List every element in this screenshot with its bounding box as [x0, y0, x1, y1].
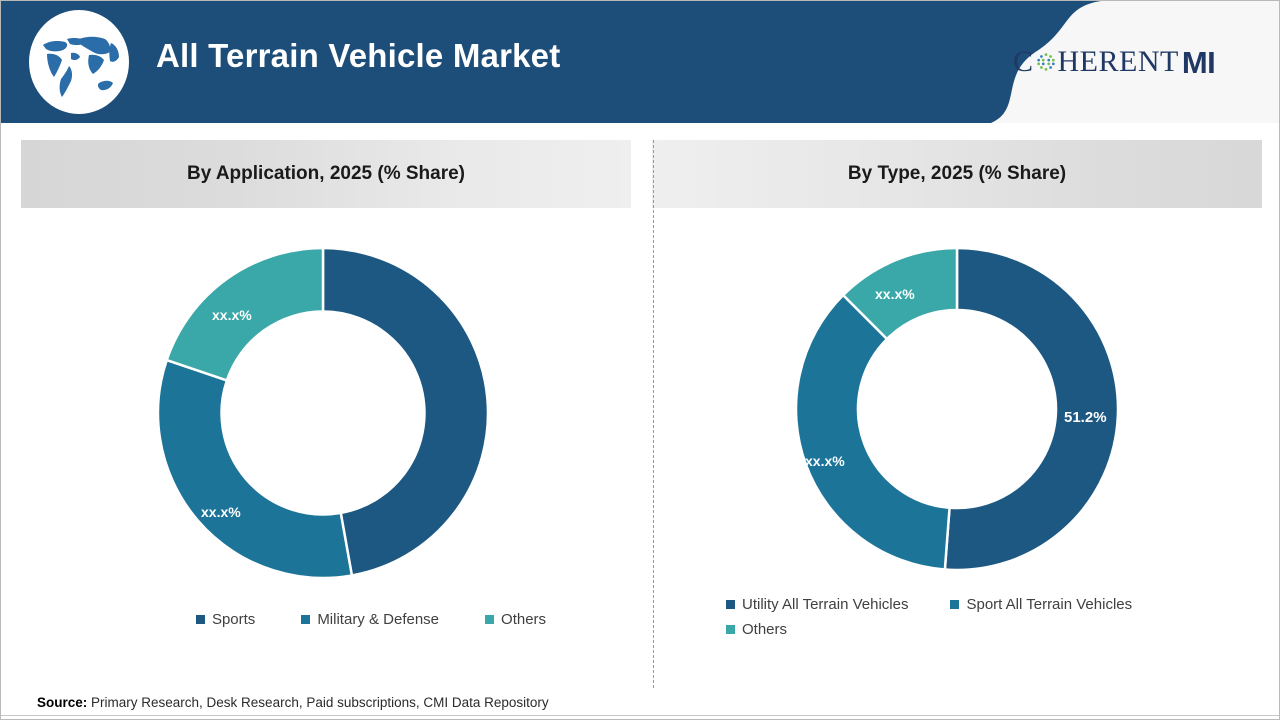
legend-item-utility-atv[interactable]: Utility All Terrain Vehicles: [726, 596, 908, 613]
legend-swatch-military-defense: [301, 615, 310, 624]
donut-slice[interactable]: [323, 248, 488, 575]
donut-left-svg: [156, 246, 490, 580]
panel-left-title: By Application, 2025 (% Share): [187, 163, 465, 185]
legend-label-sports: Sports: [212, 611, 255, 628]
legend-label-military-defense: Military & Defense: [317, 611, 439, 628]
legend-item-sport-atv[interactable]: Sport All Terrain Vehicles: [950, 596, 1132, 613]
logo-text-part1: C: [1013, 47, 1034, 77]
legend-item-sports[interactable]: Sports: [196, 611, 255, 628]
logo-text-mi: MI: [1182, 47, 1215, 78]
source-text: Primary Research, Desk Research, Paid su…: [87, 695, 548, 710]
coherentmi-logo[interactable]: C HERENT: [1013, 39, 1280, 85]
panel-left-title-bar: By Application, 2025 (% Share): [21, 140, 631, 208]
legend-swatch-others-right: [726, 625, 735, 634]
globe-world-map-icon: [27, 9, 131, 115]
panel-divider: [653, 140, 654, 688]
panel-right-title-bar: By Type, 2025 (% Share): [652, 140, 1262, 208]
sphere-globe-dots-icon: [1035, 51, 1057, 73]
source-label: Source:: [37, 695, 87, 710]
legend-label-sport-atv: Sport All Terrain Vehicles: [966, 596, 1132, 613]
legend-by-type: Utility All Terrain Vehicles Sport All T…: [726, 596, 1206, 646]
legend-label-utility-atv: Utility All Terrain Vehicles: [742, 596, 908, 613]
legend-by-application: Sports Military & Defense Others: [161, 611, 581, 628]
panel-right-title: By Type, 2025 (% Share): [848, 163, 1066, 185]
header-banner: All Terrain Vehicle Market C: [1, 1, 1280, 123]
legend-item-others-left[interactable]: Others: [485, 611, 546, 628]
page-title: All Terrain Vehicle Market: [156, 37, 560, 75]
legend-label-others-right: Others: [742, 621, 787, 638]
legend-swatch-utility-atv: [726, 600, 735, 609]
legend-swatch-sports: [196, 615, 205, 624]
infographic-page: All Terrain Vehicle Market C: [0, 0, 1280, 720]
donut-slice[interactable]: [796, 295, 950, 569]
legend-swatch-others-left: [485, 615, 494, 624]
source-note: Source: Primary Research, Desk Research,…: [37, 695, 549, 710]
donut-slice[interactable]: [167, 248, 323, 380]
donut-right-svg: [794, 246, 1120, 572]
legend-item-military-defense[interactable]: Military & Defense: [301, 611, 439, 628]
legend-item-others-right[interactable]: Others: [726, 621, 1164, 638]
footer-divider: [1, 715, 1280, 716]
donut-chart-by-application: 47.2% xx.x% xx.x%: [156, 246, 490, 580]
donut-slice[interactable]: [158, 360, 352, 578]
legend-swatch-sport-atv: [950, 600, 959, 609]
logo-text-part2: HERENT: [1058, 47, 1179, 77]
donut-chart-by-type: 51.2% xx.x% xx.x%: [794, 246, 1120, 572]
legend-label-others-left: Others: [501, 611, 546, 628]
donut-slice[interactable]: [945, 248, 1118, 570]
